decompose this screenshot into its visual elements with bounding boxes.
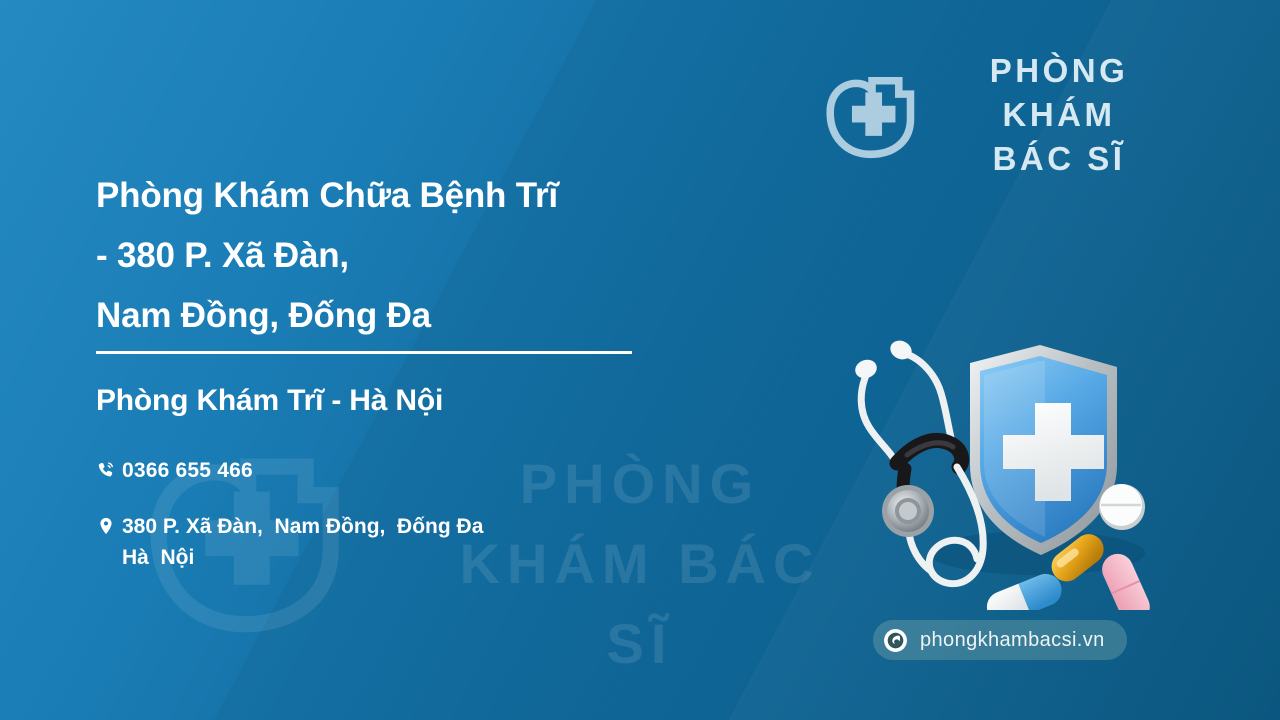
page-title: Phòng Khám Chữa Bệnh Trĩ - 380 P. Xã Đàn… (96, 166, 736, 346)
watermark-line-2: BÁC SĨ (607, 532, 821, 675)
address-line-2: Hà Nội (122, 546, 194, 569)
watermark-text: PHÒNG KHÁM BÁC SĨ (430, 444, 850, 684)
blue-white-capsule-icon (982, 569, 1066, 610)
medical-cross-heart-icon (815, 69, 919, 161)
phone-number: 0366 655 466 (122, 455, 253, 486)
page-title-line-1: Phòng Khám Chữa Bệnh Trĩ (96, 166, 736, 226)
watermark-line-1: PHÒNG KHÁM (460, 452, 761, 595)
map-pin-icon (96, 511, 122, 541)
page-title-line-3: Nam Đồng, Đống Đa (96, 286, 736, 346)
bg-diagonal-band-1 (0, 0, 868, 720)
contact-address-row[interactable]: 380 P. Xã Đàn, Nam Đồng, Đống ĐaHà Nội (96, 511, 483, 573)
website-badge[interactable]: phongkhambacsi.vn (873, 620, 1127, 660)
medical-illustration (845, 315, 1175, 610)
brand-logo-text: PHÒNG KHÁM BÁC SĨ (933, 49, 1185, 181)
contact-phone-row[interactable]: 0366 655 466 (96, 455, 253, 486)
globe-icon (883, 628, 908, 653)
brand-logo[interactable]: PHÒNG KHÁM BÁC SĨ (815, 62, 1185, 167)
website-url: phongkhambacsi.vn (920, 629, 1105, 652)
medical-shield-cross-icon (970, 345, 1117, 555)
address-line-1: 380 P. Xã Đàn, Nam Đồng, Đống Đa (122, 515, 483, 538)
brand-logo-line-1: PHÒNG KHÁM (933, 49, 1185, 137)
divider (96, 351, 632, 354)
page-title-line-2: - 380 P. Xã Đàn, (96, 226, 736, 286)
round-tablet-icon (1099, 484, 1145, 530)
phone-ring-icon (96, 455, 122, 485)
address-text: 380 P. Xã Đàn, Nam Đồng, Đống ĐaHà Nội (122, 511, 483, 573)
clinic-banner: PHÒNG KHÁM BÁC SĨ Phòng Khám Chữa Bệnh T… (0, 0, 1280, 720)
brand-logo-line-2: BÁC SĨ (933, 137, 1185, 181)
clinic-subtitle: Phòng Khám Trĩ - Hà Nội (96, 384, 443, 418)
